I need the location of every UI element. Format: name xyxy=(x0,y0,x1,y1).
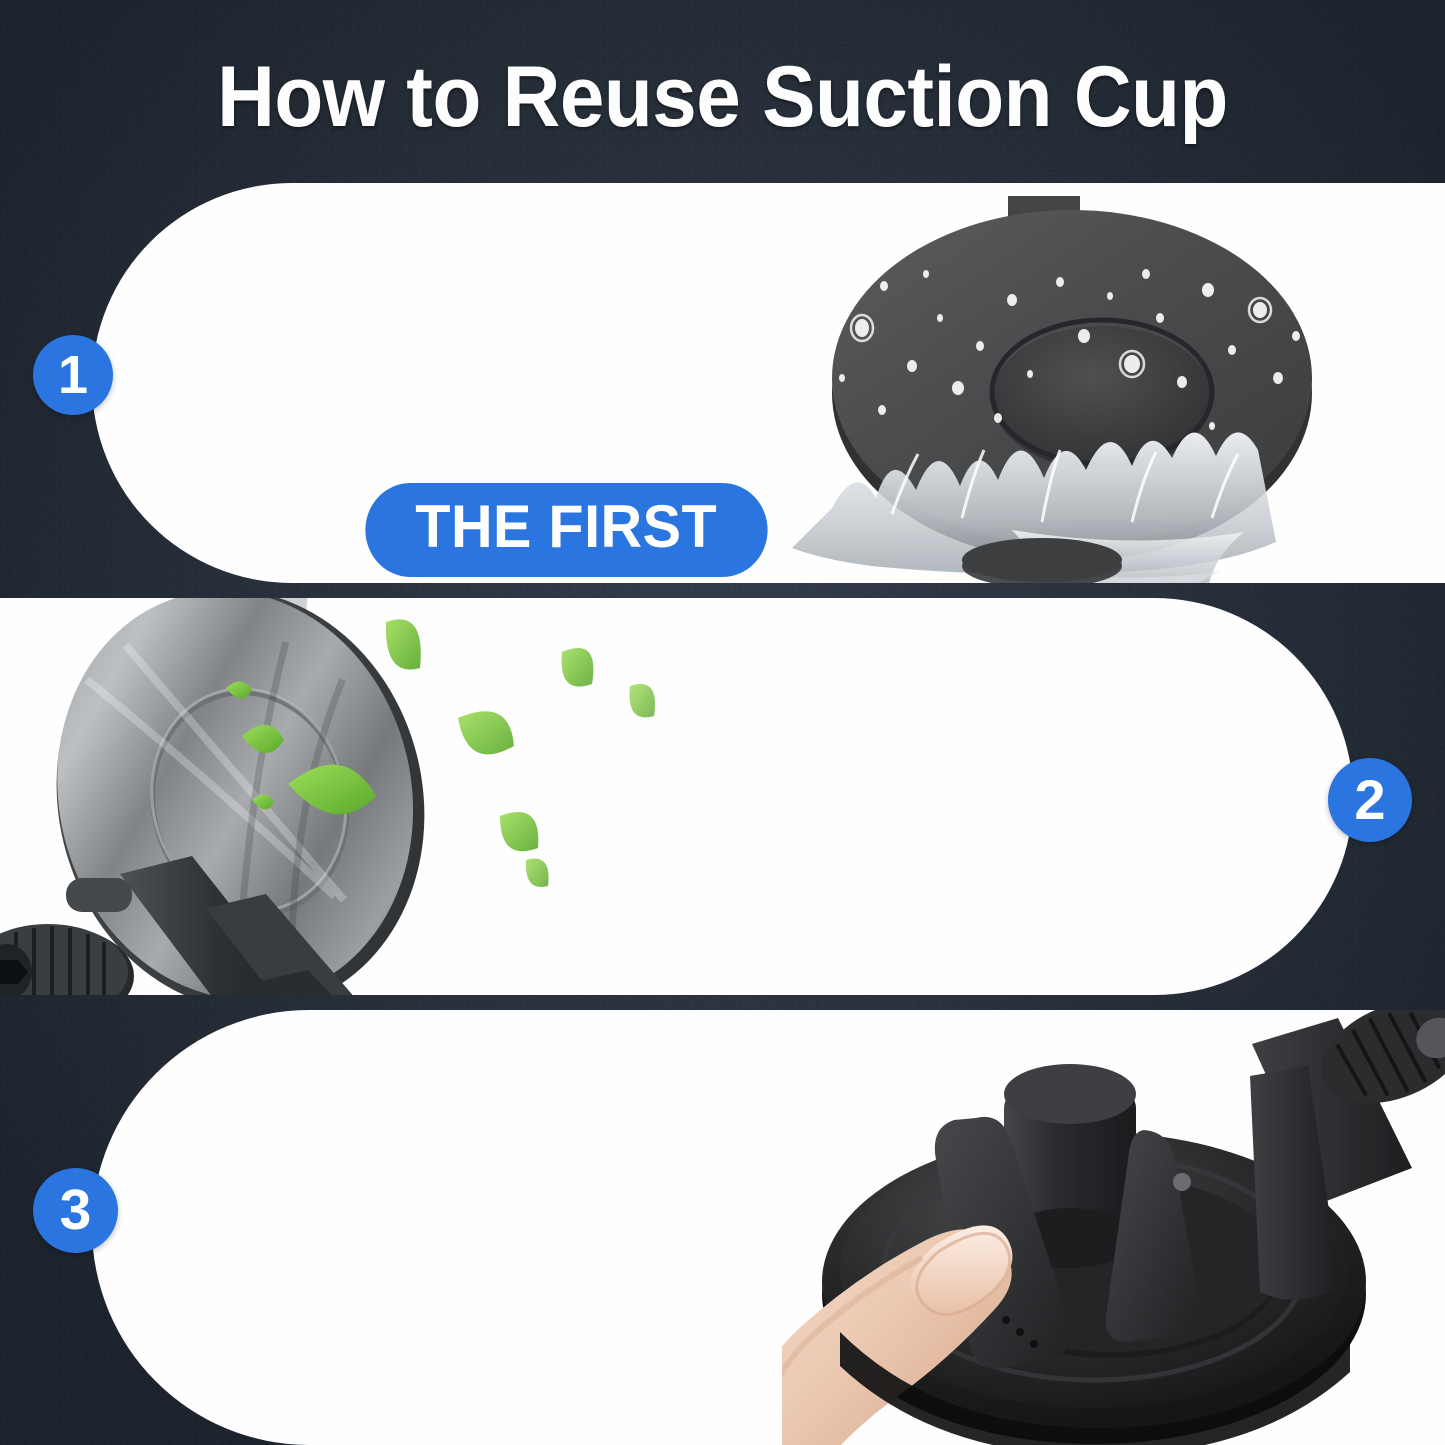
infographic-root: How to Reuse Suction Cup xyxy=(0,0,1445,1445)
step-panel-1: THE FIRST Rinse with warm water xyxy=(92,183,1445,583)
step-1-text-block: THE FIRST Rinse with warm water xyxy=(357,483,900,583)
step-panel-3: THE THIRD Pressure lock buckle xyxy=(92,1010,1445,1445)
step-badge-3[interactable]: 3 xyxy=(33,1168,118,1253)
step-badge-1[interactable]: 1 xyxy=(33,335,113,415)
step-badge-2[interactable]: 2 xyxy=(1328,758,1412,842)
step-1-pill-label[interactable]: THE FIRST xyxy=(365,483,767,577)
illustration-thumb-pressing-lock-buckle xyxy=(782,1010,1445,1445)
illustration-suction-cup-air-drying-leaves xyxy=(0,598,690,995)
step-panel-2: THE SECOND Air dry to restore suction xyxy=(0,598,1353,995)
page-title: How to Reuse Suction Cup xyxy=(51,48,1395,147)
